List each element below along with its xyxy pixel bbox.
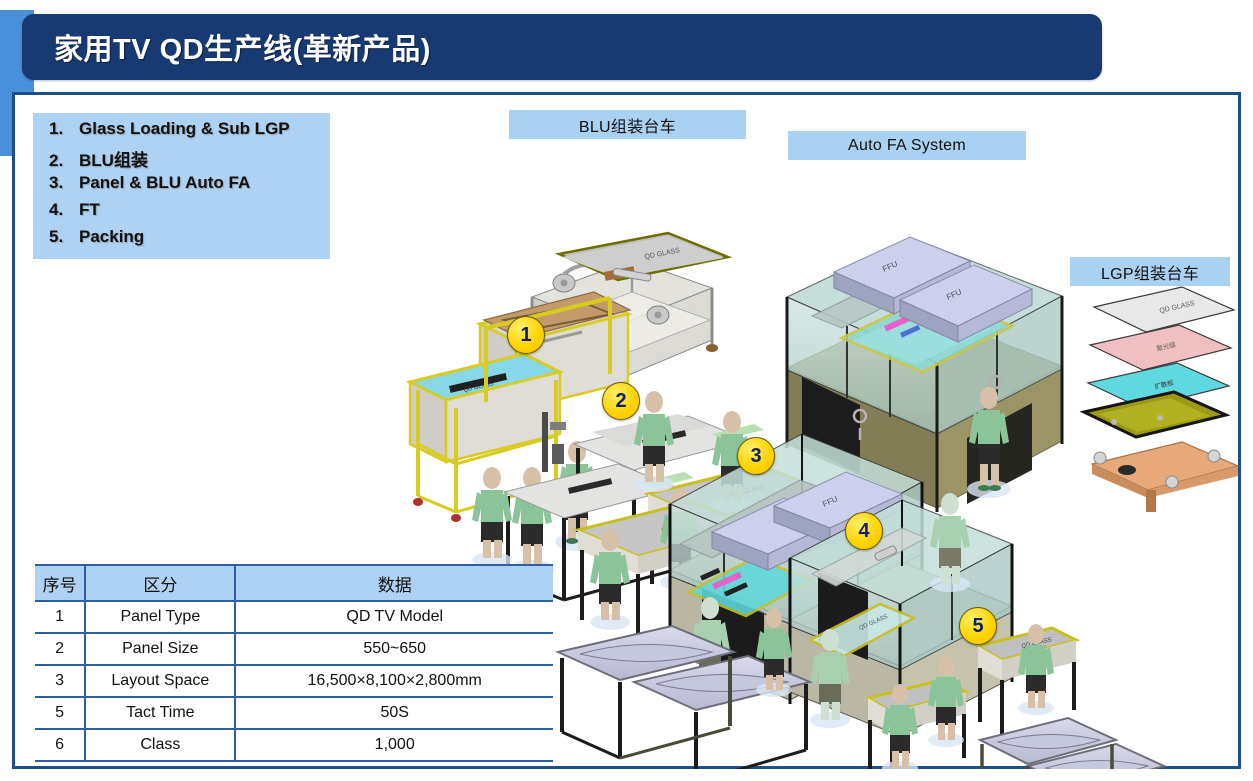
spec-row-3-division: Layout Space [85,665,235,697]
slide-root: 家用TV QD生产线(革新产品) [0,0,1253,781]
spec-row-5-value: 50S [235,697,553,729]
spec-row-5-no: 5 [35,697,85,729]
legend-item-3: 3. Panel & BLU Auto FA [33,173,330,200]
legend-item-5-label: Packing [79,227,144,247]
spec-row-1-no: 1 [35,601,85,633]
legend-item-4: 4. FT [33,200,330,227]
legend-item-3-number: 3. [49,173,79,193]
legend-item-4-label: FT [79,200,100,220]
table-row: 1 Panel Type QD TV Model [35,601,553,633]
table-row: 2 Panel Size 550~650 [35,633,553,665]
spec-table-header-row: 序号 区分 数据 [35,565,553,601]
spec-row-6-value: 1,000 [235,729,553,761]
legend-item-5-number: 5. [49,227,79,247]
spec-row-2-division: Panel Size [85,633,235,665]
table-row: 3 Layout Space 16,500×8,100×2,800mm [35,665,553,697]
station-marker-2[interactable]: 2 [602,382,640,420]
process-legend-list: 1. Glass Loading & Sub LGP 2. BLU组装 3. P… [33,113,330,259]
legend-item-1: 1. Glass Loading & Sub LGP [33,119,330,146]
spec-row-6-division: Class [85,729,235,761]
spec-row-3-no: 3 [35,665,85,697]
spec-header-data: 数据 [235,565,553,601]
spec-row-5-division: Tact Time [85,697,235,729]
legend-item-1-number: 1. [49,119,79,139]
spec-row-2-value: 550~650 [235,633,553,665]
spec-row-1-division: Panel Type [85,601,235,633]
callout-blu-cart: BLU组装台车 [509,110,746,139]
station-marker-4[interactable]: 4 [845,512,883,550]
spec-header-division: 区分 [85,565,235,601]
callout-auto-fa: Auto FA System [788,131,1026,160]
spec-row-3-value: 16,500×8,100×2,800mm [235,665,553,697]
legend-item-4-number: 4. [49,200,79,220]
spec-header-no: 序号 [35,565,85,601]
station-marker-5[interactable]: 5 [959,607,997,645]
station-marker-1[interactable]: 1 [507,316,545,354]
callout-lgp-cart: LGP组装台车 [1070,257,1230,286]
legend-item-1-label: Glass Loading & Sub LGP [79,119,290,139]
legend-item-5: 5. Packing [33,227,330,254]
spec-table: 序号 区分 数据 1 Panel Type QD TV Model 2 Pane… [35,564,553,762]
spec-row-1-value: QD TV Model [235,601,553,633]
station-marker-3[interactable]: 3 [737,437,775,475]
table-row: 5 Tact Time 50S [35,697,553,729]
legend-item-2-label: BLU组装 [79,146,148,171]
spec-row-2-no: 2 [35,633,85,665]
legend-item-2-number: 2. [49,151,79,171]
lgp-exploded-view: QD GLASS 聚光膜 扩散板 [1084,287,1238,769]
spec-row-6-no: 6 [35,729,85,761]
table-row: 6 Class 1,000 [35,729,553,761]
title-bar: 家用TV QD生产线(革新产品) [22,14,1102,80]
page-title: 家用TV QD生产线(革新产品) [54,26,431,68]
legend-item-3-label: Panel & BLU Auto FA [79,173,250,193]
legend-item-2: 2. BLU组装 [33,146,330,173]
